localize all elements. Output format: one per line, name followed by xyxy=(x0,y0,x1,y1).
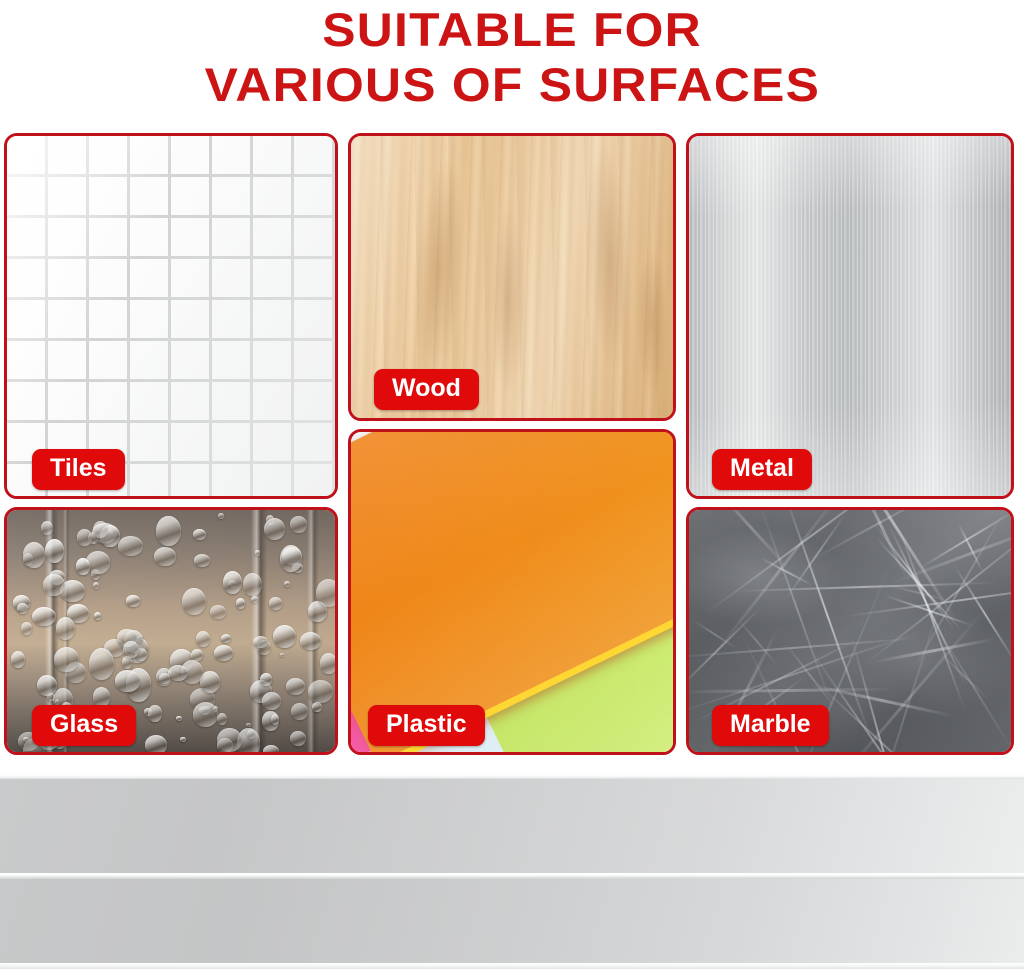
footer-wall-panel xyxy=(0,775,1024,969)
page-title-line-2: VARIOUS OF SURFACES xyxy=(204,57,820,112)
surface-panel-metal[interactable] xyxy=(686,133,1014,499)
plastic-sheen-overlay xyxy=(351,432,673,752)
surface-label-metal: Metal xyxy=(712,449,812,490)
surface-label-tiles: Tiles xyxy=(32,449,125,490)
metal-sheen-overlay xyxy=(689,136,1011,496)
surface-label-glass: Glass xyxy=(32,705,136,746)
surface-panel-grid: Tiles Wood Metal Glass xyxy=(0,131,1024,757)
surface-label-wood: Wood xyxy=(374,369,479,410)
page-title-line-1: SUITABLE FOR xyxy=(322,2,702,57)
wall-divider-top xyxy=(0,775,1024,779)
surface-label-plastic: Plastic xyxy=(368,705,485,746)
wall-divider-bottom xyxy=(0,963,1024,969)
page-title: SUITABLE FOR VARIOUS OF SURFACES xyxy=(0,0,1024,126)
wall-divider-middle xyxy=(0,873,1024,879)
tiles-sheen-overlay xyxy=(7,136,335,496)
surface-label-marble: Marble xyxy=(712,705,829,746)
wall-upper-section xyxy=(0,775,1024,873)
wall-lower-section xyxy=(0,879,1024,963)
surface-panel-tiles[interactable] xyxy=(4,133,338,499)
